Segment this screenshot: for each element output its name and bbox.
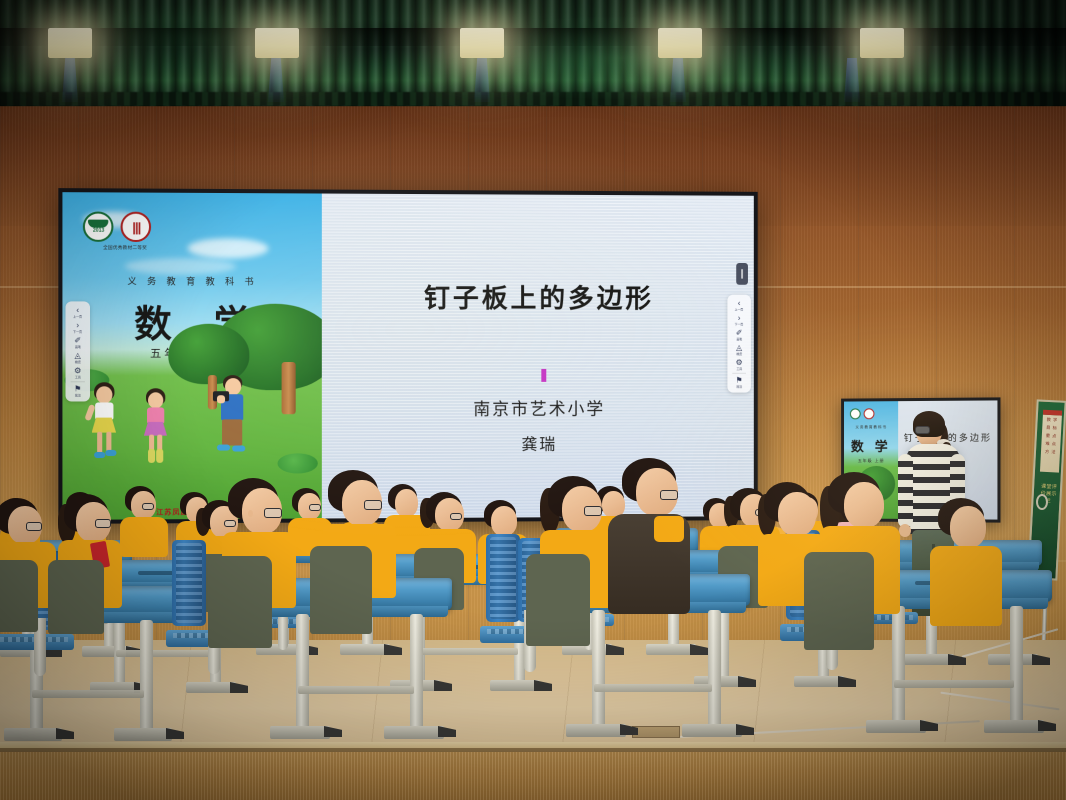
child-top: [147, 408, 164, 424]
desk-foot: [384, 726, 444, 739]
slide-author-text: 龚瑞: [322, 430, 754, 455]
textbook-series-text: 义 务 教 育 教 科 书: [62, 274, 321, 288]
desk-leg: [296, 614, 309, 730]
toolbar-prev-page-label: 上一页: [735, 308, 744, 312]
toolbar-next-page-button[interactable]: › 下一页: [727, 312, 750, 327]
award-seal-icon: [863, 408, 874, 419]
desk-foot: [186, 682, 236, 693]
desk-leg: [140, 620, 153, 732]
annotate-icon: ⚑: [736, 377, 743, 385]
child-boot-right: [156, 449, 163, 463]
slide-school-text: 南京市艺术小学: [322, 394, 754, 420]
toolbar-annotate-button[interactable]: ⚑ 批注: [66, 383, 90, 398]
student-glasses-icon: [142, 503, 154, 510]
student-head: [950, 506, 986, 548]
mini-textbook-title: 数 学: [844, 436, 899, 455]
toolbar-tools-button[interactable]: ⚙ 工具: [66, 365, 90, 380]
student-glasses-icon: [364, 500, 382, 510]
child-shoe-right: [105, 450, 116, 456]
desk-foot: [270, 726, 330, 739]
annotate-icon: ⚑: [74, 385, 81, 393]
badge-caption-text: 全国优秀教材二等奖: [83, 245, 166, 251]
desk-foot: [114, 728, 172, 741]
child-head: [148, 393, 163, 409]
toolbar-pen-button[interactable]: ✐ 画笔: [727, 327, 750, 342]
child-pants: [223, 420, 243, 446]
eraser-icon: ◬: [736, 344, 742, 352]
student-ear: [248, 510, 253, 517]
student: [222, 478, 306, 620]
desk-under-shelf: [298, 686, 414, 694]
child-skirt: [144, 422, 167, 436]
student-head: [844, 482, 884, 528]
toolbar-eraser-label: 橡皮: [736, 352, 742, 356]
toolbar-eraser-label: 橡皮: [75, 360, 81, 364]
toolbar-annotate-button[interactable]: ⚑ 批注: [727, 375, 750, 390]
toolbar-prev-page-label: 上一页: [73, 315, 82, 319]
mini-textbook-series: 义务教育教科书: [844, 425, 899, 430]
desk-foot: [566, 724, 626, 737]
desk-foot: [904, 654, 954, 665]
chevron-left-icon: ‹: [76, 306, 79, 314]
chair-backrest: [486, 534, 520, 622]
desk-foot: [984, 720, 1044, 733]
pen-icon: ✐: [74, 337, 81, 345]
student-glasses-icon: [95, 519, 111, 528]
desk-foot: [682, 724, 742, 737]
toolbar-tools-label: 工具: [75, 375, 81, 379]
desk-under-shelf: [32, 690, 144, 698]
child-arm: [84, 404, 95, 421]
student-uniform-top: [930, 546, 1002, 626]
toolbar-divider: [732, 373, 746, 374]
tools-icon: ⚙: [74, 367, 81, 375]
student-glasses-icon: [584, 506, 602, 516]
stage-front-wood-grain: [0, 752, 1066, 800]
classroom-stage-photo: 2013 ||| 全国优秀教材二等奖 义 务 教 育 教 科 书 数 学 五年级…: [0, 0, 1066, 800]
cloud-3: [125, 258, 237, 274]
desk-foot: [340, 644, 390, 655]
toolbar-pen-button[interactable]: ✐ 画笔: [66, 335, 90, 350]
child-shoe-left: [217, 445, 230, 451]
education-ministry-badge-icon: 2013: [83, 212, 114, 242]
curtain-valance-band: [0, 28, 1066, 46]
student-glasses-icon: [26, 522, 42, 531]
desk-foot: [646, 644, 696, 655]
student: [820, 472, 912, 628]
stage-light-2: [255, 28, 299, 58]
desk-leg: [592, 610, 605, 728]
desk-leg: [410, 614, 423, 730]
right-toolbar-handle[interactable]: [736, 263, 748, 285]
student-glasses-icon: [309, 504, 321, 511]
student-outer-jacket: [208, 556, 272, 648]
stage-light-3: [460, 28, 504, 58]
child-top: [95, 402, 113, 419]
tree-trunk-large: [282, 362, 296, 414]
badge-year-label: 2013: [93, 229, 104, 234]
toolbar-pen-label: 画笔: [75, 345, 81, 349]
poster-clamp-ring: [1036, 494, 1048, 510]
chevron-right-icon: ›: [76, 322, 79, 330]
chevron-left-icon: ‹: [738, 300, 741, 308]
toolbar-next-page-label: 下一页: [73, 330, 82, 334]
child-skirt: [92, 417, 116, 432]
toolbar-next-page-button[interactable]: › 下一页: [66, 320, 90, 335]
child-leg-left: [97, 432, 102, 454]
student: [58, 494, 130, 618]
student-head: [778, 492, 816, 536]
desk-foot: [866, 720, 926, 733]
student: [322, 470, 408, 616]
student-uniform-collar: [654, 516, 684, 542]
toolbar-tools-button[interactable]: ⚙ 工具: [727, 357, 750, 372]
child-head: [96, 386, 112, 403]
toolbar-tools-label: 工具: [736, 367, 742, 371]
student-outer-jacket: [48, 560, 104, 634]
student-glasses-icon: [660, 490, 678, 500]
pen-icon: ✐: [736, 329, 743, 337]
stage-light-4: [658, 28, 702, 58]
floor-access-hatch-center: [632, 726, 680, 738]
toolbar-next-page-label: 下一页: [735, 323, 744, 327]
child-boot-left: [148, 449, 155, 463]
illustration-child-boy-photographer: [213, 376, 259, 463]
cloud-2: [187, 239, 268, 259]
student-outer-jacket: [526, 554, 590, 646]
toolbar-annotate-label: 批注: [75, 394, 81, 398]
child-leg-right: [106, 432, 111, 452]
desk-under-shelf: [594, 684, 712, 692]
education-ministry-badge-icon: [849, 408, 860, 419]
student: [420, 492, 480, 586]
student-outer-jacket: [310, 546, 372, 634]
toolbar-eraser-button[interactable]: ◬ 橡皮: [66, 350, 90, 365]
desk-foot: [794, 676, 844, 687]
toolbar-divider: [71, 381, 85, 382]
teacher-glasses-icon: [915, 426, 930, 434]
student-glasses-icon: [450, 513, 462, 520]
bush-right: [278, 453, 318, 473]
desk-leg: [708, 610, 721, 728]
poster-strip-line-5: 方 法: [1041, 447, 1060, 456]
illustration-child-girl-1: [89, 382, 130, 465]
toolbar-prev-page-button[interactable]: ‹ 上一页: [727, 298, 750, 313]
desk-foot: [4, 728, 62, 741]
toolbar-annotate-label: 批注: [736, 385, 742, 389]
text-cursor-marker: [542, 369, 547, 382]
tools-icon: ⚙: [736, 359, 743, 367]
chair-backrest: [172, 540, 206, 626]
eraser-icon: ◬: [75, 352, 81, 360]
child-shoe-right: [233, 446, 246, 452]
textbook-cover-image: 2013 ||| 全国优秀教材二等奖 义 务 教 育 教 科 书 数 学 五年级…: [62, 192, 321, 520]
student-outer-jacket: [0, 560, 38, 632]
toolbar-eraser-button[interactable]: ◬ 橡皮: [727, 342, 750, 357]
student: [608, 458, 704, 622]
mini-award-badges: [849, 408, 874, 419]
student-head: [491, 506, 517, 536]
stage-light-5: [860, 28, 904, 58]
award-seal-icon: |||: [121, 212, 152, 242]
student: [930, 498, 1014, 638]
student-glasses-icon: [264, 508, 282, 518]
stage-curtain: [0, 0, 1066, 106]
textbook-award-badges: 2013 |||: [83, 212, 151, 243]
right-screen-toolbar[interactable]: ‹ 上一页 › 下一页 ✐ 画笔 ◬ 橡皮 ⚙ 工具 ⚑ 批注: [727, 295, 750, 393]
slide-title-text: 钉子板上的多边形: [322, 278, 754, 316]
desk-foot: [490, 680, 540, 691]
desk-under-shelf: [894, 680, 1014, 688]
toolbar-pen-label: 画笔: [736, 337, 742, 341]
toolbar-prev-page-button[interactable]: ‹ 上一页: [66, 304, 90, 319]
mini-textbook-grade: 五年级 上册: [844, 458, 899, 464]
chevron-right-icon: ›: [738, 314, 741, 322]
illustration-child-girl-2: [141, 389, 182, 468]
student-outer-jacket: [804, 552, 874, 650]
poster-paper-strip: 教 学 目 标 重 点 难 点 方 法: [1040, 410, 1062, 473]
stage-light-1: [48, 28, 92, 58]
child-shoe-left: [94, 452, 105, 458]
left-screen-toolbar[interactable]: ‹ 上一页 › 下一页 ✐ 画笔 ◬ 橡皮 ⚙ 工具 ⚑ 批注: [66, 301, 90, 401]
